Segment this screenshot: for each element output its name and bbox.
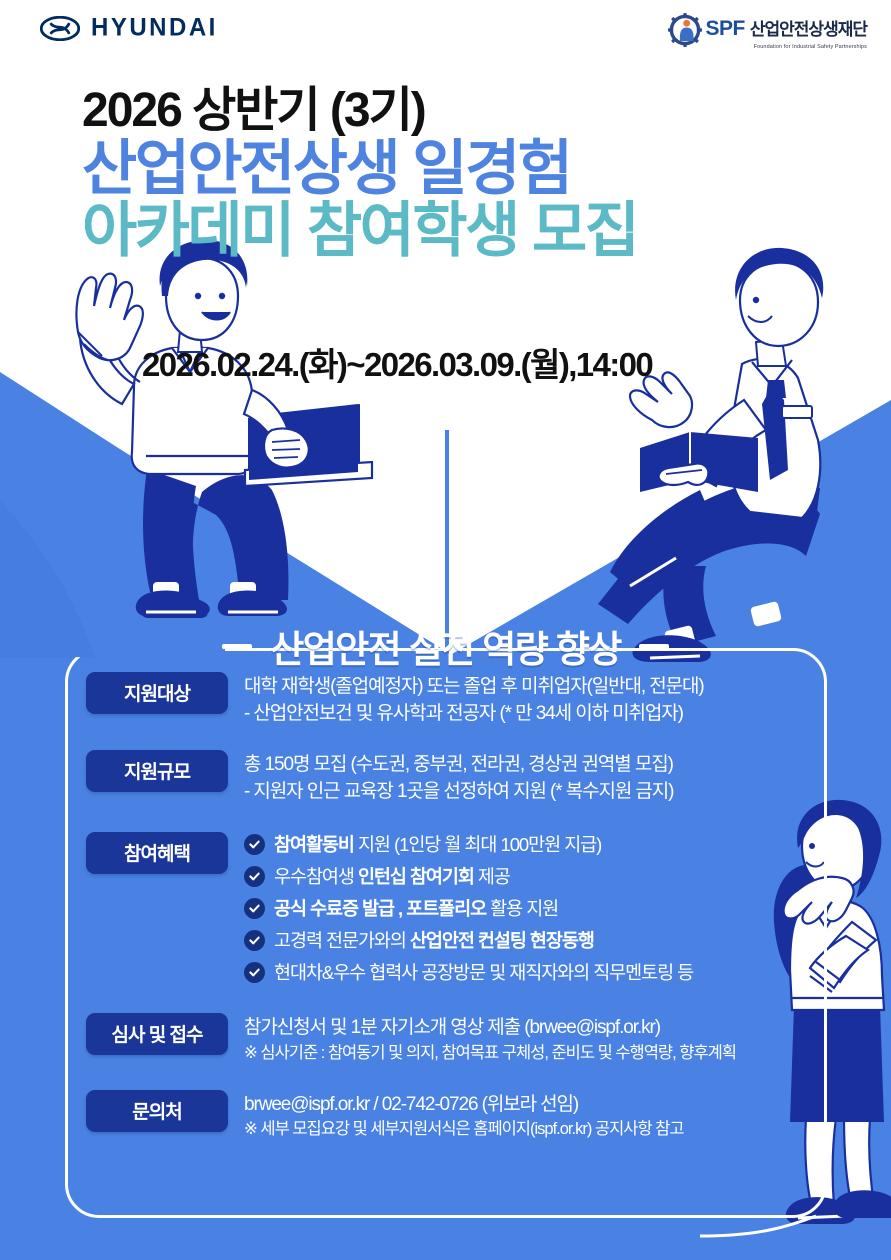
check-circle-icon bbox=[244, 930, 265, 951]
info-rows: 지원대상 대학 재학생(졸업예정자) 또는 졸업 후 미취업자(일반대, 전문대… bbox=[86, 672, 806, 1156]
row-contact: 문의처 brwee@ispf.or.kr / 02-742-0726 (위보라 … bbox=[86, 1090, 806, 1142]
badge-review: 심사 및 접수 bbox=[86, 1013, 228, 1055]
benefit-bold-2: 인턴십 참여기회 bbox=[358, 866, 474, 887]
benefit-text-2: 우수참여생 인턴십 참여기회 제공 bbox=[274, 863, 510, 889]
recruitment-period: 2026.02.24.(화)~2026.03.09.(월),14:00 bbox=[142, 338, 652, 386]
content-scale: 총 150명 모집 (수도권, 중부권, 전라권, 경상권 권역별 모집) - … bbox=[228, 750, 806, 806]
spf-logo: SPF 산업안전상생재단 Foundation for Industrial S… bbox=[668, 12, 867, 50]
row-target: 지원대상 대학 재학생(졸업예정자) 또는 졸업 후 미취업자(일반대, 전문대… bbox=[86, 672, 806, 728]
benefit-item: 공식 수료증 발급 , 포트폴리오 활용 지원 bbox=[244, 895, 806, 921]
row-scale: 지원규모 총 150명 모집 (수도권, 중부권, 전라권, 경상권 권역별 모… bbox=[86, 750, 806, 806]
content-benefits: 참여활동비 지원 (1인당 월 최대 100만원 지급) 우수참여생 인턴십 참… bbox=[228, 831, 806, 991]
content-target: 대학 재학생(졸업예정자) 또는 졸업 후 미취업자(일반대, 전문대) - 산… bbox=[228, 672, 806, 728]
target-line-1: 대학 재학생(졸업예정자) 또는 졸업 후 미취업자(일반대, 전문대) bbox=[244, 673, 806, 700]
badge-contact: 문의처 bbox=[86, 1090, 228, 1132]
benefit-bold-4: 산업안전 컨설팅 현장동행 bbox=[410, 930, 594, 951]
title-line-2: 산업안전상생 일경험 bbox=[82, 136, 637, 202]
check-circle-icon bbox=[244, 834, 265, 855]
heading-dash-left-icon bbox=[222, 644, 252, 649]
scale-line-1: 총 150명 모집 (수도권, 중부권, 전라권, 경상권 권역별 모집) bbox=[244, 751, 806, 778]
scale-line-2: - 지원자 인근 교육장 1곳을 선정하여 지원 (* 복수지원 금지) bbox=[244, 778, 806, 805]
check-circle-icon bbox=[244, 866, 265, 887]
title-line-3: 아카데미 참여학생 모집 bbox=[82, 198, 637, 264]
check-circle-icon bbox=[244, 898, 265, 919]
section-heading: 산업안전 실전 역량 향상 bbox=[0, 619, 891, 673]
benefit-item: 우수참여생 인턴십 참여기회 제공 bbox=[244, 863, 806, 889]
title-block: 2026 상반기 (3기) 산업안전상생 일경험 아카데미 참여학생 모집 bbox=[82, 84, 637, 264]
benefit-rest-1: 지원 (1인당 월 최대 100만원 지급) bbox=[354, 834, 601, 855]
spf-abbr: SPF bbox=[706, 17, 745, 41]
content-contact: brwee@ispf.or.kr / 02-742-0726 (위보라 선임) … bbox=[228, 1090, 806, 1142]
benefit-item: 고경력 전문가와의 산업안전 컨설팅 현장동행 bbox=[244, 927, 806, 953]
target-line-2: - 산업안전보건 및 유사학과 전공자 (* 만 34세 이하 미취업자) bbox=[244, 700, 806, 727]
poster-header: HYUNDAI bbox=[0, 0, 891, 70]
poster-root: HYUNDAI bbox=[0, 0, 891, 1260]
info-panel: 지원대상 대학 재학생(졸업예정자) 또는 졸업 후 미취업자(일반대, 전문대… bbox=[65, 648, 827, 1218]
benefit-rest-2: 제공 bbox=[474, 866, 510, 887]
benefit-pre-4: 고경력 전문가와의 bbox=[274, 930, 410, 951]
contact-line-2: ※ 세부 모집요강 및 세부지원서식은 홈페이지(ispf.or.kr) 공지사… bbox=[244, 1118, 806, 1142]
benefit-text-3: 공식 수료증 발급 , 포트폴리오 활용 지원 bbox=[274, 895, 558, 921]
review-line-2: ※ 심사기준 : 참여동기 및 의지, 참여목표 구체성, 준비도 및 수행역량… bbox=[244, 1042, 806, 1066]
benefit-pre-2: 우수참여생 bbox=[274, 866, 358, 887]
review-line-1: 참가신청서 및 1분 자기소개 영상 제출 (brwee@ispf.or.kr) bbox=[244, 1014, 806, 1041]
content-review: 참가신청서 및 1분 자기소개 영상 제출 (brwee@ispf.or.kr)… bbox=[228, 1013, 806, 1065]
title-line-1: 2026 상반기 (3기) bbox=[82, 84, 637, 138]
benefit-bold-3: 공식 수료증 발급 , 포트폴리오 bbox=[274, 898, 486, 919]
benefit-bold-1: 참여활동비 bbox=[274, 834, 354, 855]
heading-dash-right-icon bbox=[639, 644, 669, 649]
badge-scale: 지원규모 bbox=[86, 750, 228, 792]
benefit-item: 참여활동비 지원 (1인당 월 최대 100만원 지급) bbox=[244, 831, 806, 857]
badge-target: 지원대상 bbox=[86, 672, 228, 714]
spf-korean-name: 산업안전상생재단 bbox=[750, 15, 867, 40]
hyundai-h-ellipse-icon bbox=[40, 16, 80, 41]
benefit-text-1: 참여활동비 지원 (1인당 월 최대 100만원 지급) bbox=[274, 831, 601, 857]
section-heading-text: 산업안전 실전 역량 향상 bbox=[270, 619, 620, 673]
row-benefits: 참여혜택 참여활동비 지원 (1인당 월 최대 100만원 지급) bbox=[86, 831, 806, 991]
badge-benefits: 참여혜택 bbox=[86, 832, 228, 874]
hyundai-logo: HYUNDAI bbox=[40, 14, 218, 42]
row-review: 심사 및 접수 참가신청서 및 1분 자기소개 영상 제출 (brwee@isp… bbox=[86, 1013, 806, 1065]
benefit-text-5: 현대차&우수 협력사 공장방문 및 재직자와의 직무멘토링 등 bbox=[274, 959, 693, 985]
benefit-item: 현대차&우수 협력사 공장방문 및 재직자와의 직무멘토링 등 bbox=[244, 959, 806, 985]
spf-tagline: Foundation for Industrial Safety Partner… bbox=[706, 44, 867, 50]
check-circle-icon bbox=[244, 962, 265, 983]
benefit-rest-3: 활용 지원 bbox=[486, 898, 558, 919]
contact-line-1: brwee@ispf.or.kr / 02-742-0726 (위보라 선임) bbox=[244, 1091, 806, 1118]
gear-person-icon bbox=[668, 13, 702, 47]
benefit-text-4: 고경력 전문가와의 산업안전 컨설팅 현장동행 bbox=[274, 927, 594, 953]
hyundai-wordmark: HYUNDAI bbox=[91, 13, 218, 42]
